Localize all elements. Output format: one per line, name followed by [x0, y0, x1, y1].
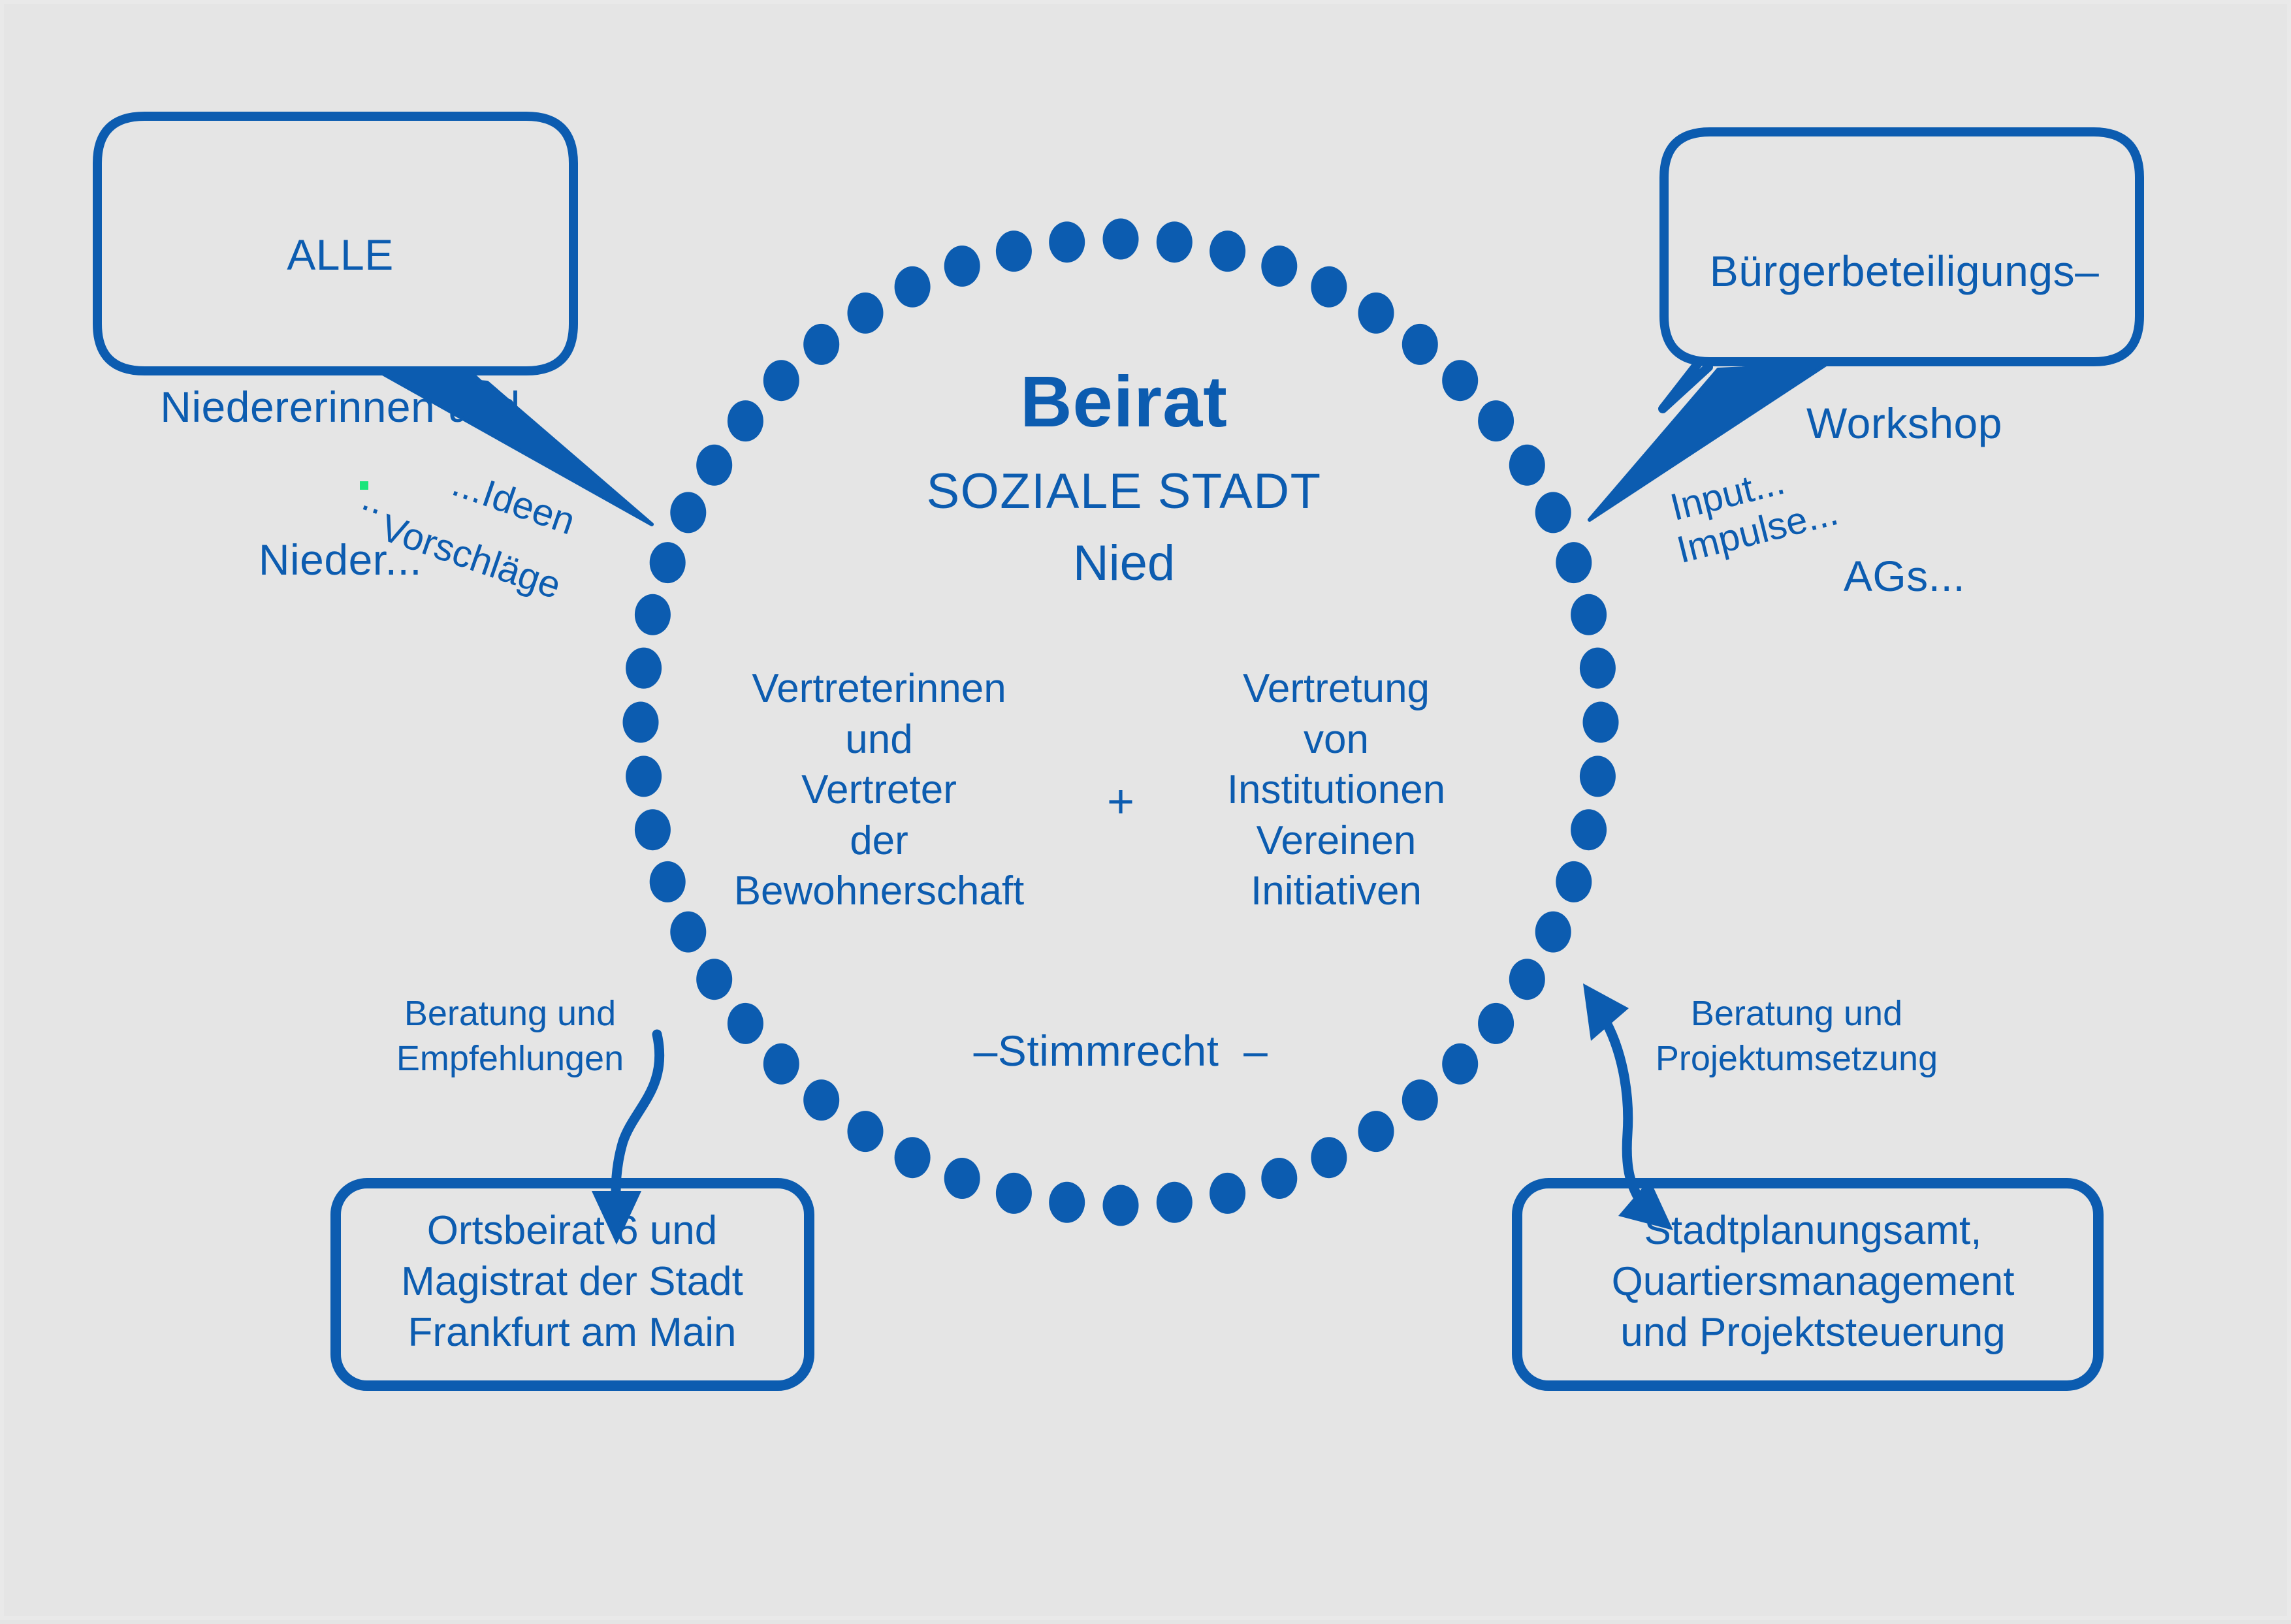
circle-dot [1210, 231, 1245, 272]
bubble-right-line2: Workshop [1666, 398, 2143, 449]
circle-dot [728, 400, 763, 441]
diagram-canvas: ALLE Niedererinnen und Nieder... Bürgerb… [0, 0, 2291, 1620]
center-subtitle-line1: SOZIALE STADT [794, 462, 1454, 521]
circle-dot [696, 445, 732, 486]
bottom-right-box-label: Stadtplanungsamt, Quartiersmanagement un… [1526, 1205, 2100, 1358]
circle-dot [1583, 702, 1619, 743]
circle-dot [1358, 293, 1394, 334]
speech-bubble-left-label: ALLE Niedererinnen und Nieder... [102, 128, 579, 688]
circle-dot [1157, 221, 1193, 263]
circle-dot [1556, 861, 1592, 902]
circle-dot [1049, 221, 1085, 263]
bottom-left-box-label: Ortsbeirat 6 und Magistrat der Stadt Fra… [347, 1205, 797, 1358]
circle-dot [895, 1137, 931, 1178]
circle-dot [1157, 1182, 1193, 1223]
circle-dot [650, 861, 686, 902]
circle-dot [1358, 1111, 1394, 1152]
circle-dot [696, 959, 732, 1000]
circle-dot [1478, 1003, 1514, 1044]
circle-dot [895, 266, 931, 308]
circle-dot [1580, 756, 1616, 797]
plus-sign: + [1075, 774, 1166, 830]
bubble-left-line1: ALLE [102, 230, 579, 281]
stimmrecht-footer: –Stimmrecht – [918, 1026, 1323, 1077]
circle-dot [1571, 594, 1607, 635]
circle-dot [1311, 1137, 1347, 1178]
circle-dot [1580, 648, 1616, 689]
circle-dot [996, 1173, 1032, 1214]
bubble-left-line2: Niedererinnen und [102, 382, 579, 433]
circle-dot [650, 542, 686, 583]
circle-dot [1261, 1158, 1297, 1199]
circle-dot [1535, 912, 1571, 953]
column-right-institutions: Vertretung von Institutionen Vereinen In… [1173, 663, 1499, 917]
circle-dot [848, 1111, 884, 1152]
circle-dot [626, 756, 662, 797]
circle-dot [1402, 324, 1438, 365]
circle-dot [803, 324, 839, 365]
circle-dot [1571, 809, 1607, 850]
circle-dot [944, 246, 980, 287]
circle-dot [626, 648, 662, 689]
annotation-beratung-projektumsetzung: Beratung und Projektumsetzung [1643, 991, 1950, 1081]
circle-dot [1402, 1079, 1438, 1121]
circle-dot [728, 1003, 763, 1044]
circle-dot [635, 809, 671, 850]
circle-dot [670, 492, 706, 533]
circle-dot [670, 912, 706, 953]
circle-dot [1509, 959, 1545, 1000]
circle-dot [623, 702, 659, 743]
circle-dot [996, 231, 1032, 272]
circle-dot [803, 1079, 839, 1121]
circle-dot [1556, 542, 1592, 583]
center-subtitle-line2: Nied [794, 534, 1454, 593]
speech-bubble-right-label: Bürgerbeteiligungs– Workshop AGs... [1666, 144, 2143, 704]
center-title: Beirat [794, 360, 1454, 445]
circle-dot [1103, 1185, 1139, 1226]
column-left-residents: Vertreterinnen und Vertreter der Bewohne… [696, 663, 1062, 917]
circle-dot [1103, 219, 1139, 260]
circle-dot [944, 1158, 980, 1199]
annotation-beratung-empfehlungen: Beratung und Empfehlungen [373, 991, 647, 1081]
circle-dot [1442, 1043, 1478, 1085]
circle-dot [1509, 445, 1545, 486]
circle-dot [1535, 492, 1571, 533]
circle-dot [635, 594, 671, 635]
circle-dot [848, 293, 884, 334]
circle-dot [1311, 266, 1347, 308]
circle-dot [1210, 1173, 1245, 1214]
circle-dot [1049, 1182, 1085, 1223]
circle-dot [1261, 246, 1297, 287]
bubble-right-line1: Bürgerbeteiligungs– [1666, 246, 2143, 297]
circle-dot [763, 1043, 799, 1085]
circle-dot [1478, 400, 1514, 441]
